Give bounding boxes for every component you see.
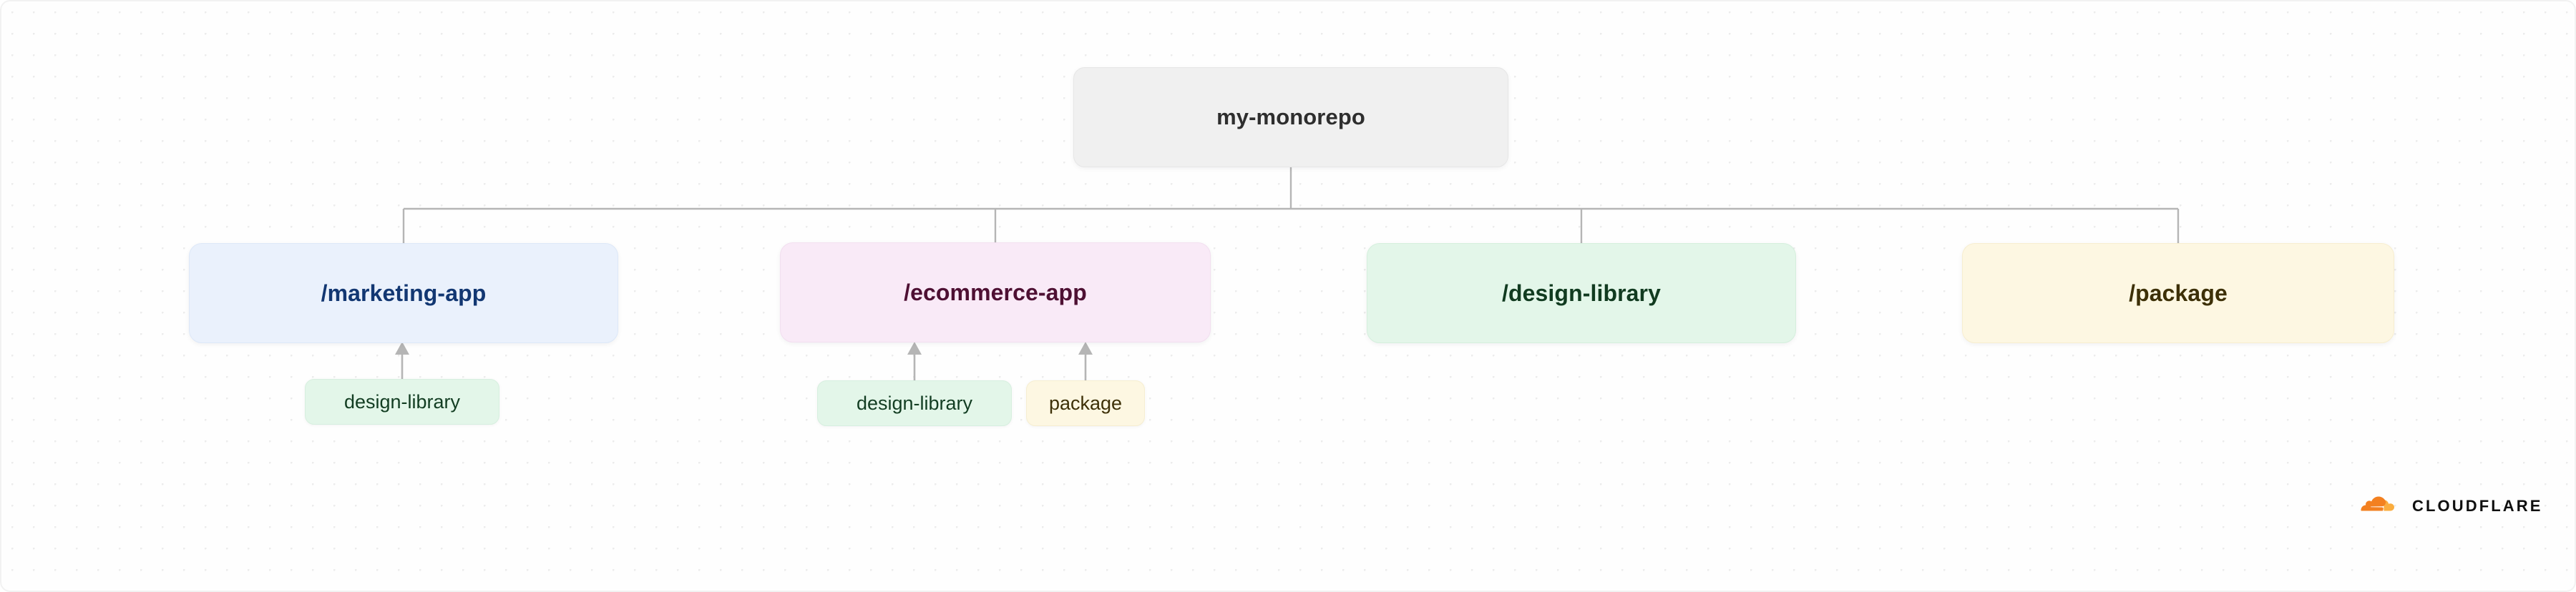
dependency-tag-ecommerce-design-library[interactable]: design-library — [817, 380, 1012, 426]
node-label-design-library: /design-library — [1502, 280, 1661, 307]
node-label-marketing-app: /marketing-app — [321, 280, 487, 307]
dependency-tag-marketing-design-library[interactable]: design-library — [305, 379, 499, 425]
node-package[interactable]: /package — [1962, 243, 2394, 343]
cloudflare-cloud-icon — [2357, 492, 2403, 520]
dependency-tag-ecommerce-package[interactable]: package — [1026, 380, 1145, 426]
cloudflare-logo: CLOUDFLARE — [2357, 492, 2543, 520]
node-my-monorepo[interactable]: my-monorepo — [1073, 67, 1508, 167]
node-label-root: my-monorepo — [1216, 104, 1365, 130]
cloudflare-wordmark: CLOUDFLARE — [2412, 497, 2543, 515]
node-marketing-app[interactable]: /marketing-app — [189, 243, 618, 343]
node-ecommerce-app[interactable]: /ecommerce-app — [780, 242, 1211, 342]
diagram-canvas: my-monorepo /marketing-app /ecommerce-ap… — [0, 0, 2576, 592]
node-design-library[interactable]: /design-library — [1367, 243, 1796, 343]
node-label-ecommerce-app: /ecommerce-app — [904, 280, 1087, 306]
node-label-package: /package — [2129, 280, 2228, 307]
